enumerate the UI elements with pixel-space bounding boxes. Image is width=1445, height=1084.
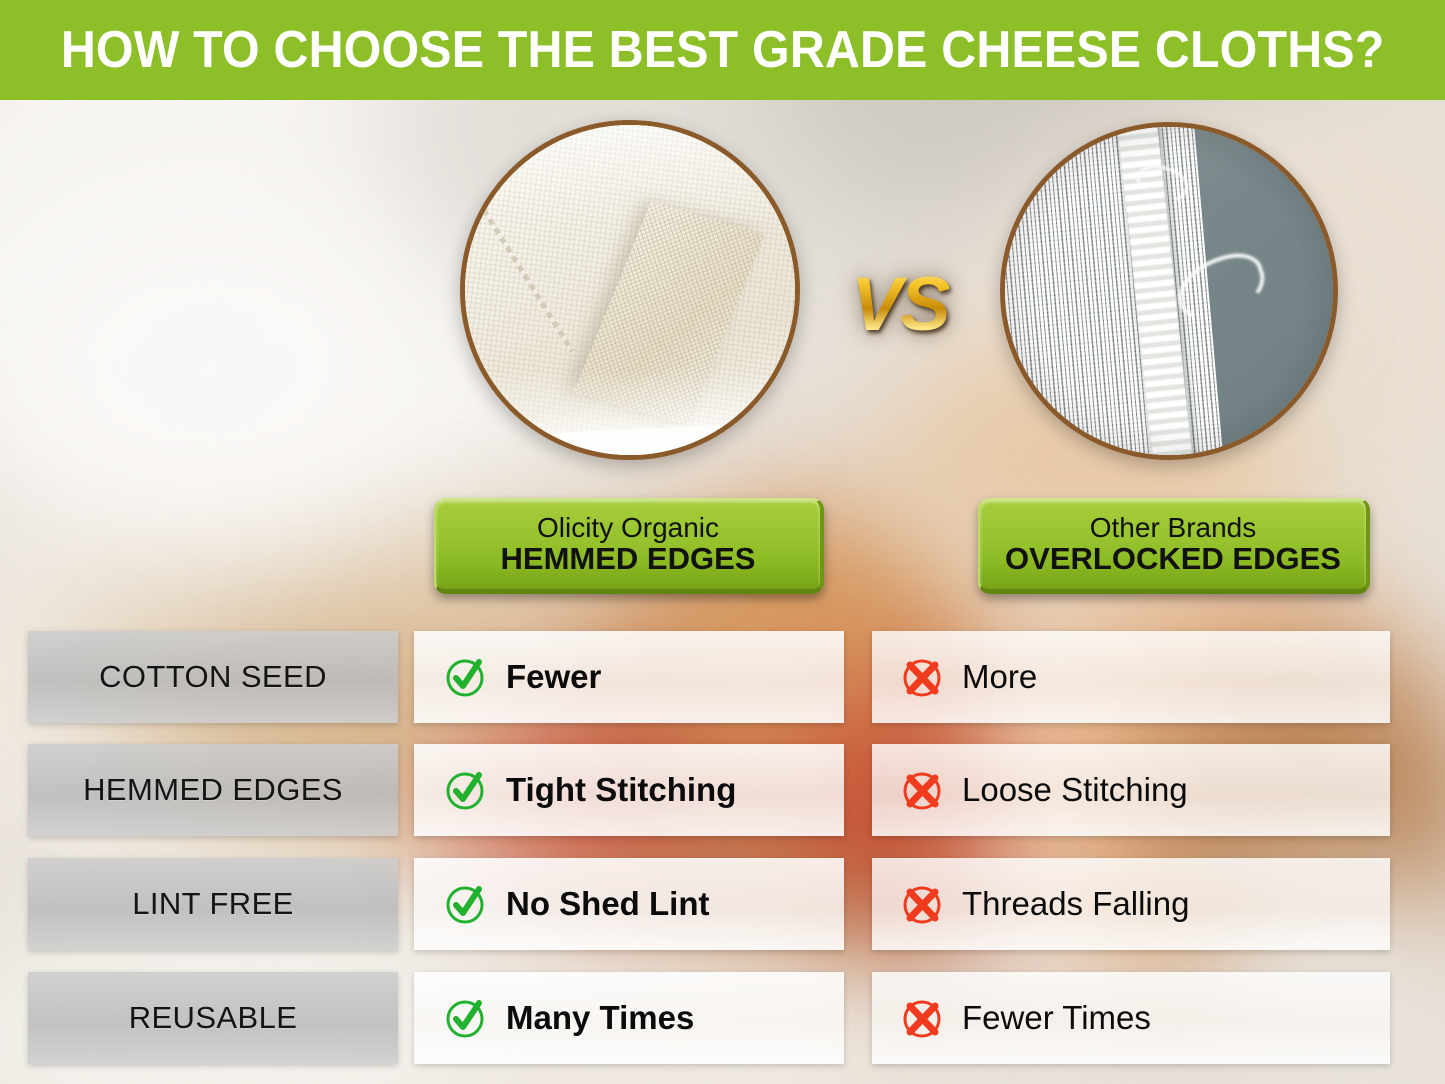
feature-label: LINT FREE: [132, 886, 294, 922]
badge-left-feature: HEMMED EDGES: [501, 543, 756, 576]
badge-right-feature: OVERLOCKED EDGES: [1005, 543, 1341, 576]
olicity-value: No Shed Lint: [506, 885, 709, 923]
other-brands-value: Loose Stitching: [962, 771, 1188, 809]
green-check-circle-icon: [442, 880, 490, 928]
versus-label: VS: [851, 261, 948, 348]
other-brands-value-cell: Threads Falling: [872, 858, 1390, 950]
red-x-circle-icon: [898, 880, 946, 928]
red-x-circle-icon: [898, 653, 946, 701]
table-row: HEMMED EDGES Tight Stitching Loose Stitc…: [0, 744, 1445, 836]
feature-label-cell: REUSABLE: [28, 972, 398, 1064]
other-brands-value: Fewer Times: [962, 999, 1151, 1037]
feature-label: COTTON SEED: [99, 659, 327, 695]
other-brands-value: Threads Falling: [962, 885, 1189, 923]
feature-label-cell: COTTON SEED: [28, 631, 398, 723]
badge-left-brand: Olicity Organic: [537, 513, 719, 543]
other-brands-value-cell: Loose Stitching: [872, 744, 1390, 836]
table-row: REUSABLE Many Times Fewer Times: [0, 972, 1445, 1064]
olicity-value: Many Times: [506, 999, 694, 1037]
product-photo-hemmed-edges: [460, 120, 800, 460]
header-banner: HOW TO CHOOSE THE BEST GRADE CHEESE CLOT…: [0, 0, 1445, 100]
table-row: LINT FREE No Shed Lint Threads Falling: [0, 858, 1445, 950]
red-x-circle-icon: [898, 994, 946, 1042]
olicity-value: Fewer: [506, 658, 601, 696]
green-check-circle-icon: [442, 653, 490, 701]
versus-badge: VS: [838, 262, 962, 346]
feature-label-cell: HEMMED EDGES: [28, 744, 398, 836]
other-brands-value: More: [962, 658, 1037, 696]
badge-other-brands: Other Brands OVERLOCKED EDGES: [978, 498, 1370, 594]
green-check-circle-icon: [442, 994, 490, 1042]
olicity-value-cell: Fewer: [414, 631, 844, 723]
badge-olicity-organic: Olicity Organic HEMMED EDGES: [434, 498, 824, 594]
olicity-value-cell: Many Times: [414, 972, 844, 1064]
feature-label-cell: LINT FREE: [28, 858, 398, 950]
other-brands-value-cell: More: [872, 631, 1390, 723]
page-title: HOW TO CHOOSE THE BEST GRADE CHEESE CLOT…: [61, 20, 1385, 80]
product-photo-overlocked-edges: [1000, 122, 1338, 460]
olicity-value-cell: No Shed Lint: [414, 858, 844, 950]
red-x-circle-icon: [898, 766, 946, 814]
olicity-value-cell: Tight Stitching: [414, 744, 844, 836]
other-brands-value-cell: Fewer Times: [872, 972, 1390, 1064]
feature-label: REUSABLE: [129, 1000, 298, 1036]
badge-right-brand: Other Brands: [1090, 513, 1257, 543]
olicity-value: Tight Stitching: [506, 771, 736, 809]
feature-label: HEMMED EDGES: [83, 772, 343, 808]
green-check-circle-icon: [442, 766, 490, 814]
table-row: COTTON SEED Fewer More: [0, 631, 1445, 723]
